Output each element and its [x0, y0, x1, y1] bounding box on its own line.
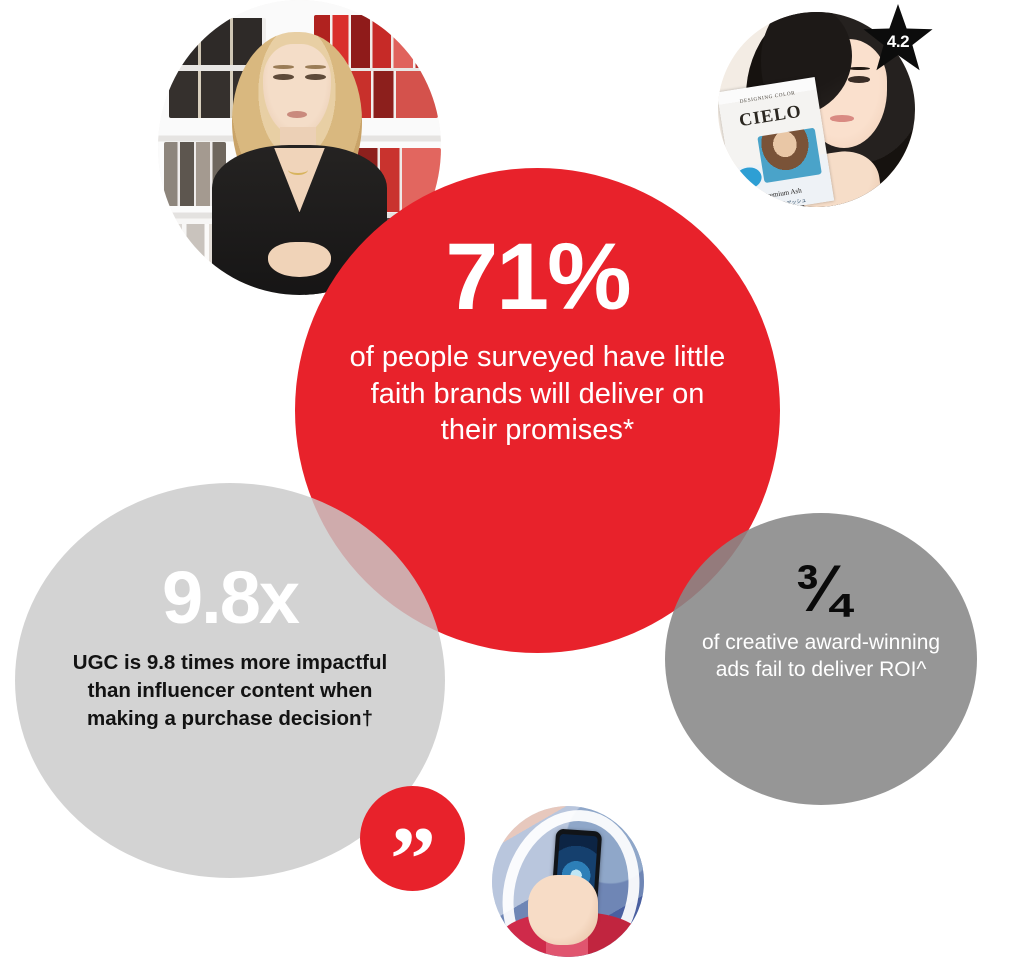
associate-lips	[287, 111, 307, 118]
photo-ugc-phone	[492, 806, 644, 957]
associate-eye-left	[273, 74, 294, 80]
creator-eye-right	[848, 76, 870, 83]
stat-headline-ugc-impact: 9.8x	[162, 561, 298, 635]
stat-headline-award-roi: ¾	[794, 555, 847, 621]
stat-circle-award-roi: ¾ of creative award-winning ads fail to …	[665, 513, 977, 805]
stat-body-ugc-impact: UGC is 9.8 times more impactful than inf…	[60, 649, 400, 733]
star-rating-badge: 4.2	[862, 4, 934, 76]
stat-body-award-roi: of creative award-winning ads fail to de…	[696, 629, 946, 684]
creator-lips	[830, 115, 854, 122]
star-rating-value: 4.2	[862, 4, 934, 76]
stat-body-brand-trust: of people surveyed have little faith bra…	[348, 339, 728, 449]
quote-icon: ”	[390, 813, 435, 905]
phone-user-hand	[528, 875, 598, 944]
infographic-canvas: DESIGNING COLOR CIELO Premium Ash プレミアムア…	[0, 0, 1012, 957]
associate-brow-right	[305, 65, 326, 69]
associate-brow-left	[273, 65, 294, 69]
stat-headline-brand-trust: 71%	[445, 230, 629, 325]
quote-mark-badge: ”	[360, 786, 465, 891]
